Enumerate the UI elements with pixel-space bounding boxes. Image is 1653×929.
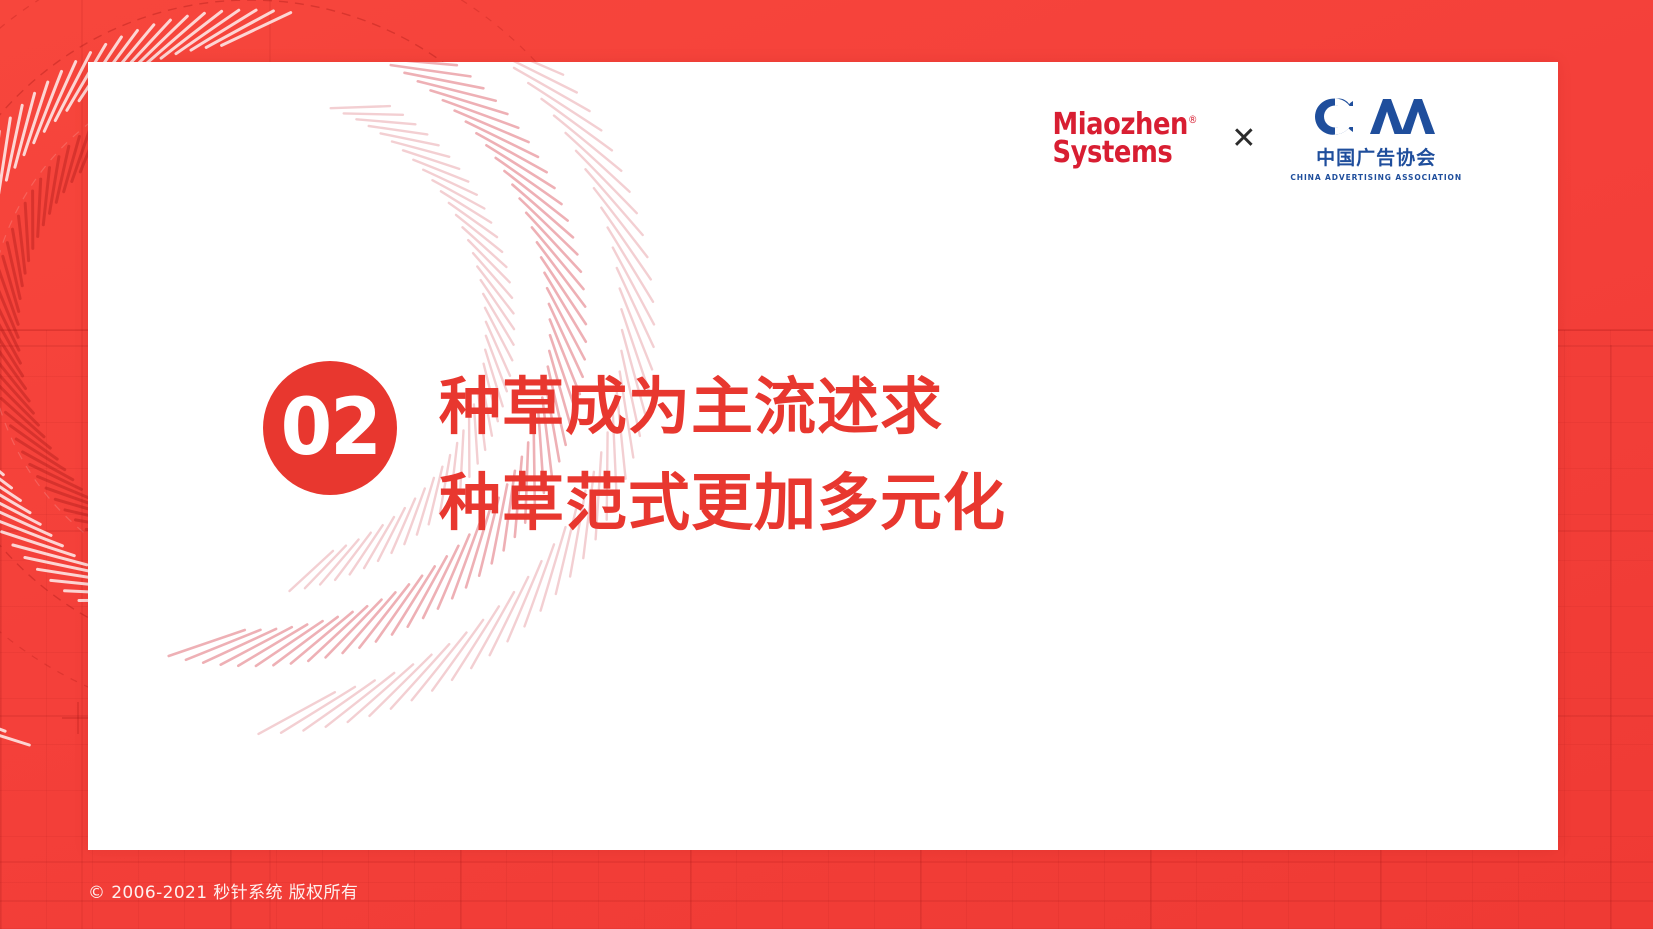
content-card: Miaozhen® Systems ✕ (88, 62, 1558, 850)
caa-mark-icon (1290, 96, 1462, 141)
caa-logo: 中国广告协会 CHINA ADVERTISING ASSOCIATION (1290, 96, 1462, 182)
copyright-footer: © 2006-2021 秒针系统 版权所有 (88, 878, 358, 903)
section-title-line-1: 种草成为主流述求 (439, 359, 1006, 455)
caa-name-cn: 中国广告协会 (1290, 143, 1462, 170)
section-title-line-2: 种草范式更加多元化 (439, 455, 1006, 551)
section-title-block: 02 种草成为主流述求 种草范式更加多元化 (263, 355, 1006, 551)
section-number-badge: 02 (263, 361, 397, 495)
caa-name-en: CHINA ADVERTISING ASSOCIATION (1290, 173, 1462, 182)
miaozhen-logo-line2: Systems (1053, 139, 1197, 167)
slide-canvas: Miaozhen® Systems ✕ (0, 0, 1653, 929)
section-number: 02 (280, 389, 379, 467)
registered-trademark-icon: ® (1188, 113, 1197, 126)
section-title-lines: 种草成为主流述求 种草范式更加多元化 (439, 355, 1006, 551)
cross-icon: ✕ (1231, 124, 1256, 154)
logo-row: Miaozhen® Systems ✕ (1029, 96, 1462, 182)
miaozhen-logo: Miaozhen® Systems (1053, 111, 1197, 166)
